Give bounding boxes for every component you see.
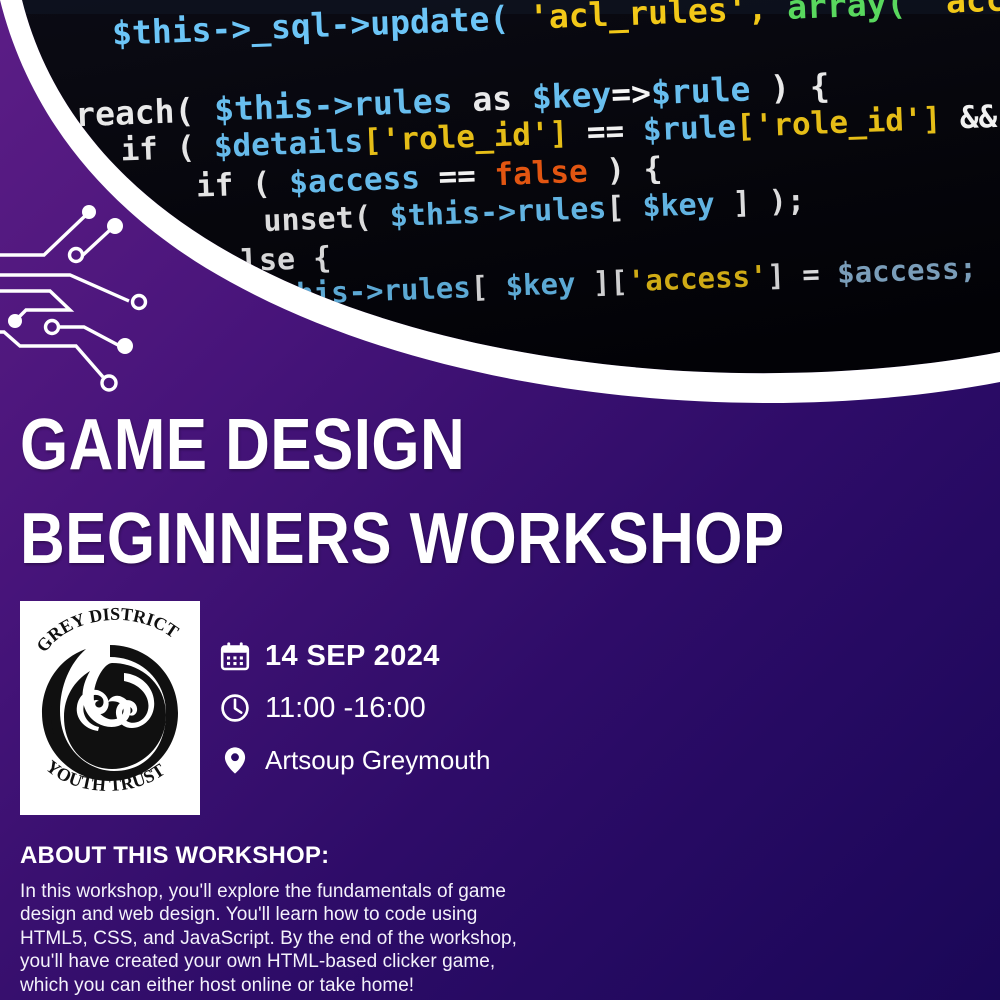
detail-row-date: 14 SEP 2024 xyxy=(218,630,490,682)
event-venue: Artsoup Greymouth xyxy=(265,745,490,775)
calendar-icon xyxy=(218,639,258,673)
about-heading: ABOUT THIS WORKSHOP: xyxy=(20,841,540,871)
event-poster: $this->_sql->update( 'acl_rules', array(… xyxy=(0,0,1000,1000)
clock-icon xyxy=(218,691,258,725)
detail-row-venue: Artsoup Greymouth xyxy=(218,734,490,786)
event-date: 14 SEP 2024 xyxy=(265,641,440,671)
event-time: 11:00 -16:00 xyxy=(265,693,426,723)
title-line-2: BEGINNERS WORKSHOP xyxy=(20,492,820,586)
about-body: In this workshop, you'll explore the fun… xyxy=(20,880,540,997)
poster-title: GAME DESIGN BEGINNERS WORKSHOP xyxy=(20,398,950,586)
event-details: 14 SEP 2024 11:00 -16:00 Artsoup Greymou… xyxy=(218,630,490,786)
about-section: ABOUT THIS WORKSHOP: In this workshop, y… xyxy=(20,841,540,997)
title-line-1: GAME DESIGN xyxy=(20,398,820,492)
organiser-logo: GREY DISTRICT YOUTH TRUST xyxy=(20,601,200,815)
logo-top-text: GREY DISTRICT xyxy=(32,604,182,656)
detail-row-time: 11:00 -16:00 xyxy=(218,682,490,734)
code-photo-hero: $this->_sql->update( 'acl_rules', array(… xyxy=(0,0,1000,420)
location-pin-icon xyxy=(218,743,258,777)
